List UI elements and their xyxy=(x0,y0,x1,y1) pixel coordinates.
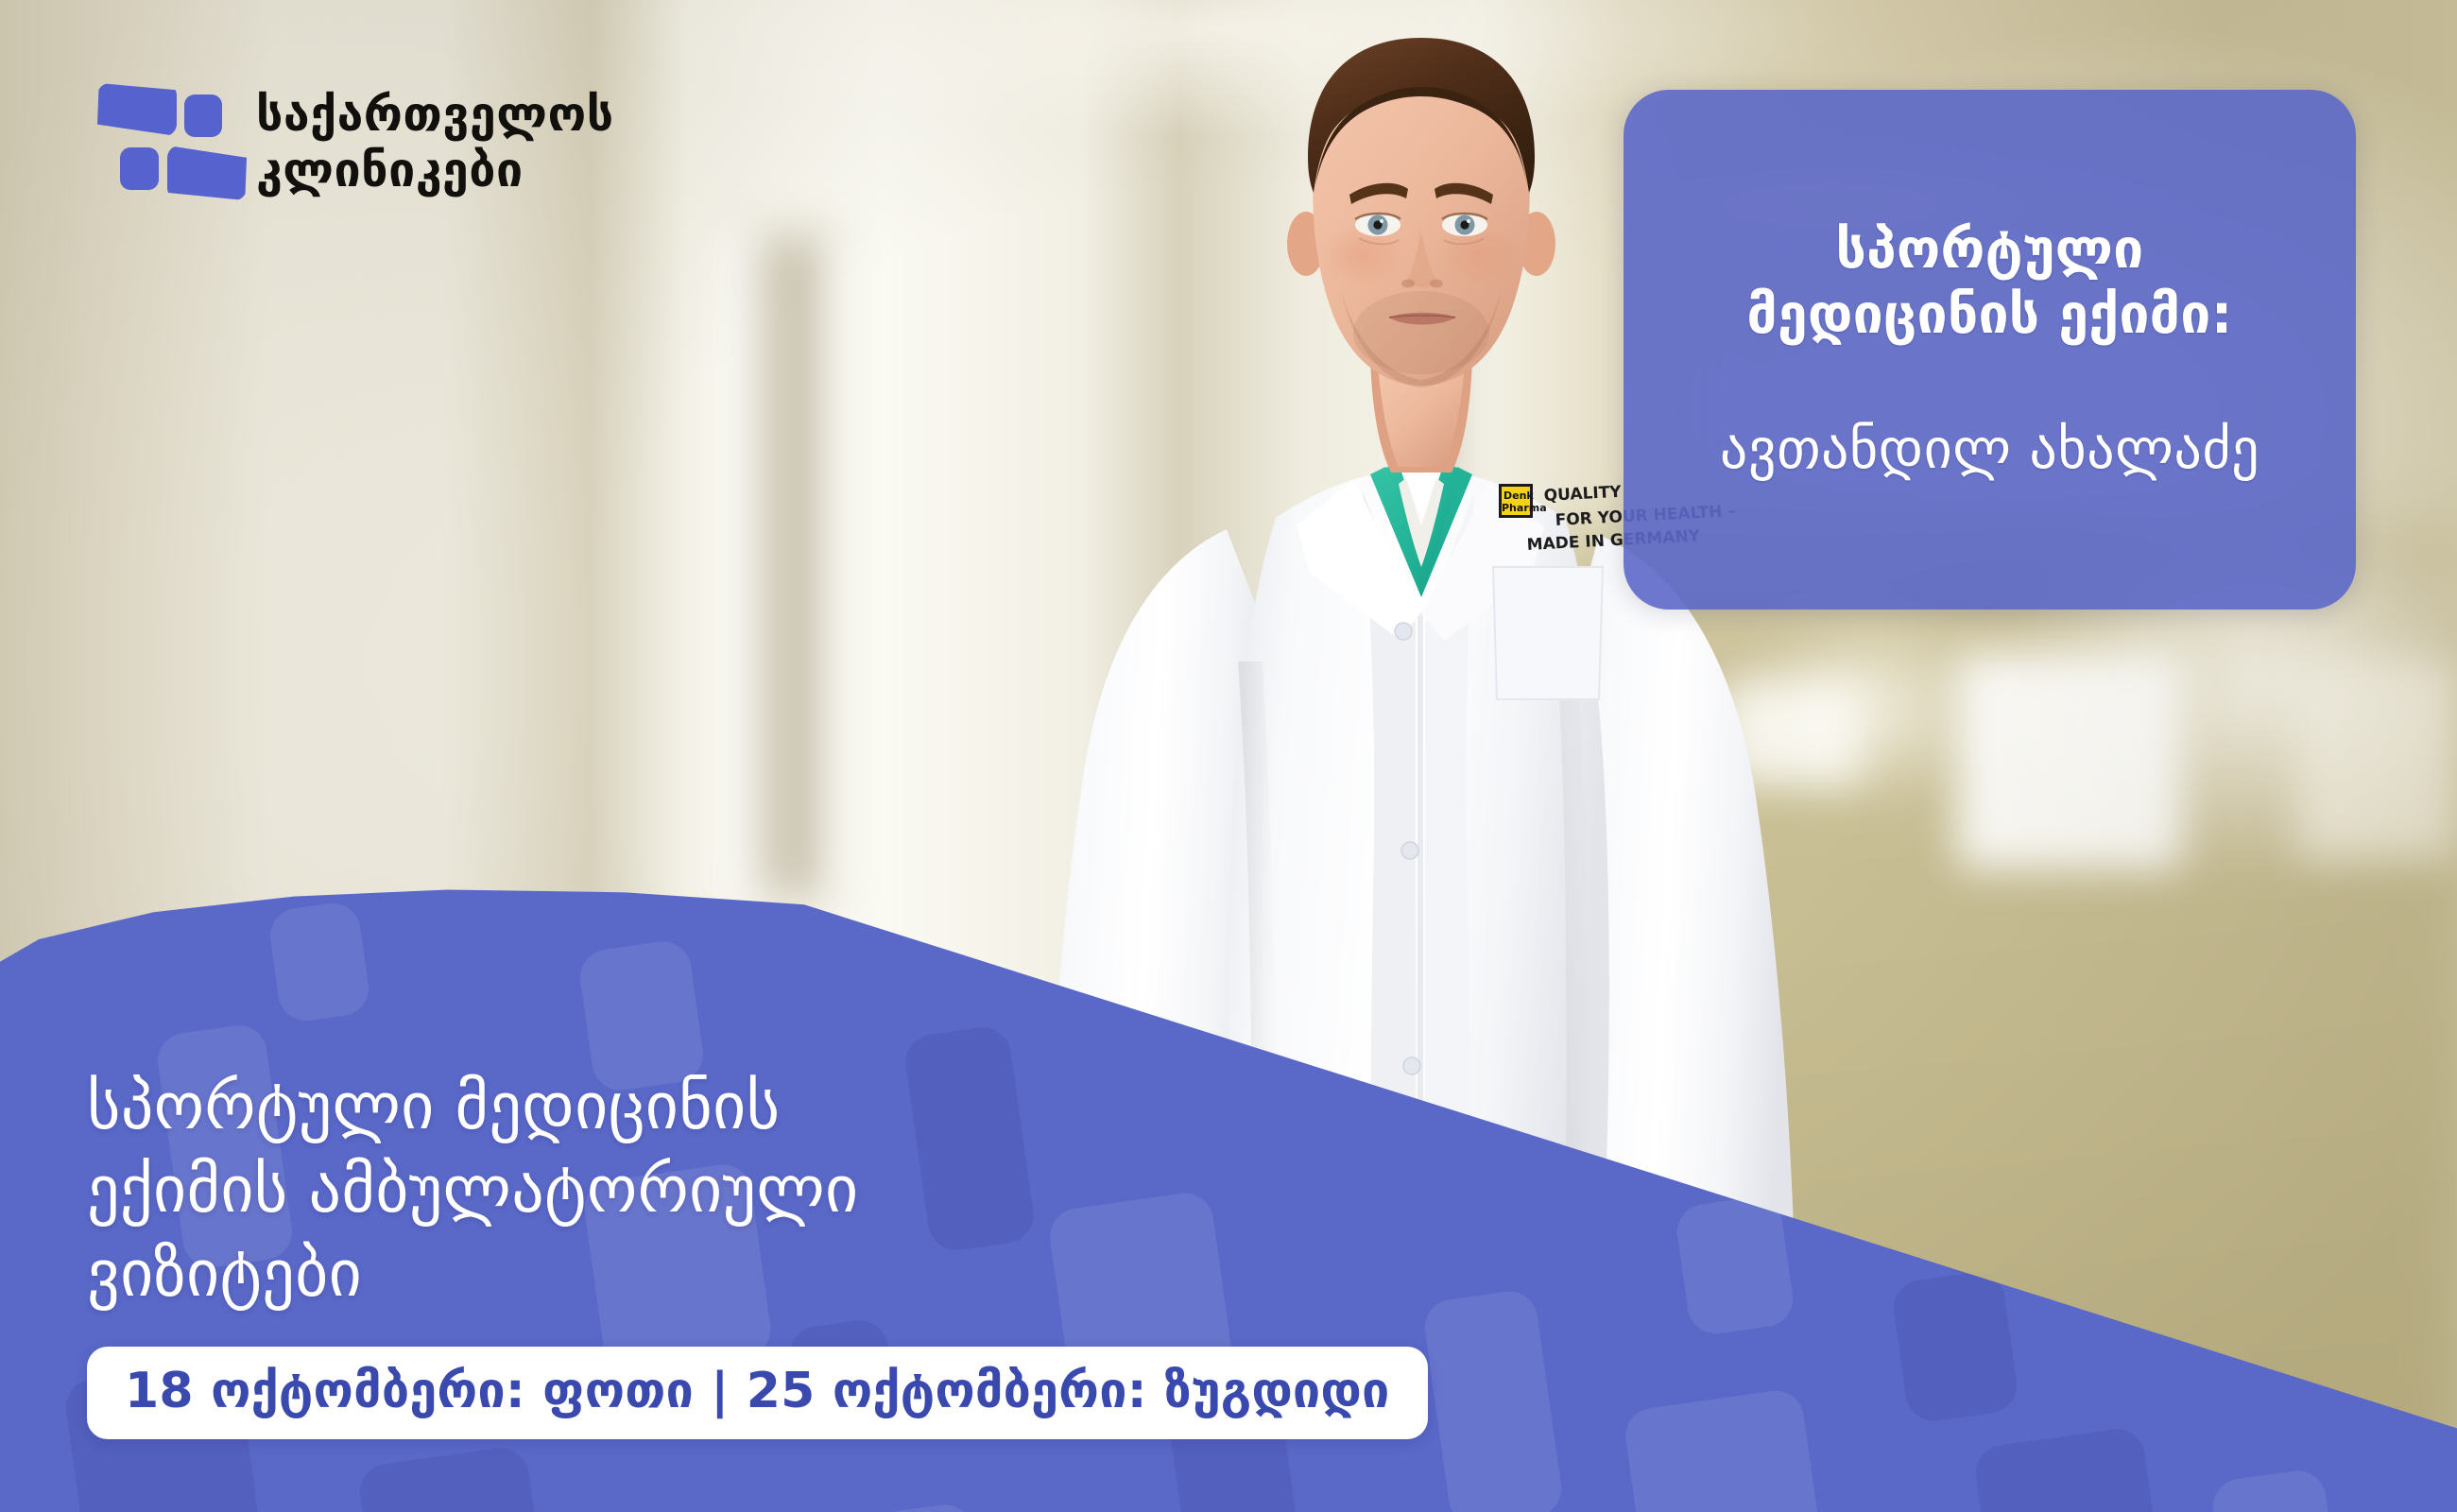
brand-logo[interactable]: საქართველოს კლინიკები xyxy=(97,83,614,201)
decorative-pill xyxy=(1890,1269,2020,1425)
logo-wordmark: საქართველოს კლინიკები xyxy=(256,87,614,198)
page-title: სპორტული მედიცინის ექიმის ამბულატორიული … xyxy=(87,1066,1429,1316)
logo-shape-bottom-left xyxy=(120,147,159,190)
logo-shape-bottom-right xyxy=(167,146,247,200)
logo-shape-top-left xyxy=(97,83,177,136)
promo-copy-block: სპორტული მედიცინის ექიმის ამბულატორიული … xyxy=(87,1066,1429,1439)
clinic-logo-mark-icon xyxy=(97,83,222,201)
decorative-pill xyxy=(1972,1425,2167,1512)
schedule-text: 18 ოქტომბერი: ფოთი | 25 ოქტომბერი: ზუგდი… xyxy=(125,1363,1390,1419)
decorative-pill xyxy=(1622,1387,1827,1512)
decorative-pill xyxy=(1421,1288,1565,1512)
promo-banner: Denk Pharma QUALITY FOR YOUR HEALTH – MA… xyxy=(0,0,2457,1512)
decorative-pill xyxy=(1674,1194,1796,1337)
schedule-pill: 18 ოქტომბერი: ფოთი | 25 ოქტომბერი: ზუგდი… xyxy=(87,1347,1428,1439)
decorative-pill xyxy=(800,1501,995,1512)
decorative-pill xyxy=(356,1444,551,1512)
logo-shape-top-right xyxy=(184,94,222,137)
decorative-pill xyxy=(266,900,372,1024)
decorative-pill xyxy=(2209,1468,2345,1512)
